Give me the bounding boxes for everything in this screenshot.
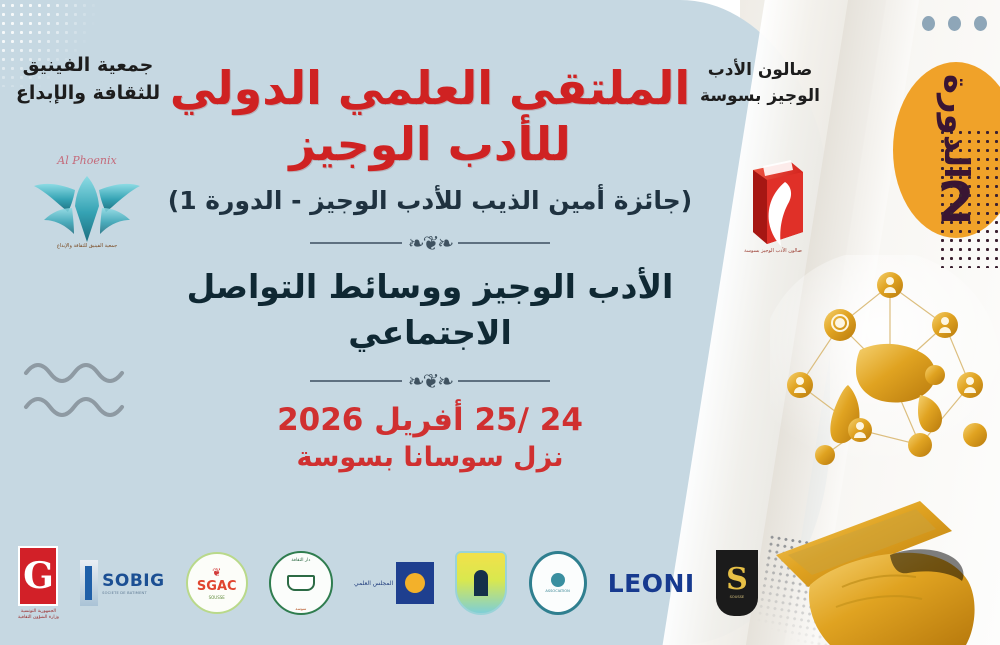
sponsor-logo-sgac: ❦ SGAC SOUSSE: [186, 543, 248, 623]
shield-emblem-icon: [455, 551, 507, 615]
s-emblem-icon: S SOUSSE: [716, 550, 758, 616]
sponsor-logo-dar-thaqafa: دار الثقافة سوسة: [269, 543, 333, 623]
phoenix-bird-icon: Al Phoenix: [28, 150, 146, 250]
page-title: الملتقى العلمي الدولي للأدب الوجيز: [150, 60, 710, 172]
wavy-lines-icon: [22, 355, 132, 421]
svg-text:Al Phoenix: Al Phoenix: [56, 154, 117, 167]
sponsor-caption: SOCIETE DE BATIMENT: [102, 591, 164, 595]
sponsor-caption: SOUSSE: [209, 595, 225, 600]
ornament-divider-top: ❧❦❧: [280, 232, 580, 254]
ornament-divider-bottom: ❧❦❧: [280, 370, 580, 392]
sponsor-logo-g: G الجمهورية التونسيةوزارة الشؤون الثقافي…: [18, 543, 59, 623]
sponsor-caption: ASSOCIATION: [545, 589, 569, 593]
golden-hand-holding-phone-social-network: [770, 255, 1000, 645]
ornament-glyph: ❧❦❧: [408, 233, 452, 253]
sgac-flower-icon: ❦: [212, 567, 221, 578]
ornament-bar-right: [310, 380, 402, 382]
salon-logo-caption: صالون الأدب الوجيز بسوسة: [725, 248, 821, 255]
dar-thaqafa-logo-icon: دار الثقافة سوسة: [269, 551, 333, 615]
salon-block: صالون الأدب الوجيز بسوسة: [700, 58, 820, 109]
ornament-bar-right: [310, 242, 402, 244]
oval-emblem-icon: ASSOCIATION: [529, 551, 587, 615]
sponsor-logo-sobig: SOBIG SOCIETE DE BATIMENT: [80, 543, 164, 623]
person-icon: [551, 573, 565, 587]
ornament-bar-left: [458, 380, 550, 382]
sponsor-logo-shield: [455, 543, 507, 623]
sponsor-strip: G الجمهورية التونسيةوزارة الشؤون الثقافي…: [18, 539, 758, 627]
sponsor-caption: SOUSSE: [730, 595, 745, 599]
event-date: 24 /25 أفريل 2026: [150, 402, 710, 438]
page-subtitle: (جائزة أمين الذيب للأدب الوجيز - الدورة …: [150, 184, 710, 218]
dot-grid-icon-edition-badge: [938, 128, 1000, 268]
sponsor-caption: سوسة: [295, 606, 306, 611]
event-poster: الدورة 2 جمعية الفينيق للثقافة والإبداع …: [0, 0, 1000, 645]
salon-name-line2: الوجيز بسوسة: [700, 84, 820, 110]
association-name-line2: للثقافة والإبداع: [8, 80, 168, 108]
sponsor-name: S: [726, 567, 748, 593]
ornament-glyph: ❧❦❧: [408, 371, 452, 391]
sponsor-logo-leoni: LEONI: [608, 543, 695, 623]
sponsor-logo-oval-org: ASSOCIATION: [529, 543, 587, 623]
event-venue: نزل سوسانا بسوسة: [150, 442, 710, 473]
sponsor-caption: الجمهورية التونسيةوزارة الشؤون الثقافية: [18, 609, 59, 621]
association-name-line1: جمعية الفينيق: [8, 52, 168, 80]
sponsor-name: SOBIG: [102, 571, 164, 591]
sobig-logo-icon: SOBIG SOCIETE DE BATIMENT: [80, 560, 164, 606]
mosque-icon: [474, 570, 488, 596]
open-book-icon: [287, 575, 315, 591]
sun-book-icon: [405, 573, 425, 593]
sponsor-name: SGAC: [197, 580, 237, 593]
association-logo-caption: جمعية الفينيق للثقافة والإبداع: [28, 243, 146, 250]
three-dots-icon: [922, 16, 987, 31]
salon-name-line1: صالون الأدب: [700, 58, 820, 84]
sponsor-caption: المجلس العلمي: [354, 579, 393, 588]
association-block: جمعية الفينيق للثقافة والإبداع: [8, 52, 168, 107]
theme-text: الأدب الوجيز ووسائط التواصل الاجتماعي: [150, 264, 710, 356]
g-logo-icon: G: [18, 546, 58, 606]
majlis-logo-icon: المجلس العلمي: [354, 562, 434, 604]
title-block: الملتقى العلمي الدولي للأدب الوجيز (جائز…: [150, 60, 710, 473]
sponsor-logo-majlis: المجلس العلمي: [354, 543, 434, 623]
red-book-flame-icon: [733, 158, 817, 250]
ornament-bar-left: [458, 242, 550, 244]
sponsor-name: LEONI: [608, 569, 695, 598]
sponsor-logo-s-dark: S SOUSSE: [716, 543, 758, 623]
sponsor-name: دار الثقافة: [291, 558, 310, 563]
sgac-logo-icon: ❦ SGAC SOUSSE: [186, 552, 248, 614]
